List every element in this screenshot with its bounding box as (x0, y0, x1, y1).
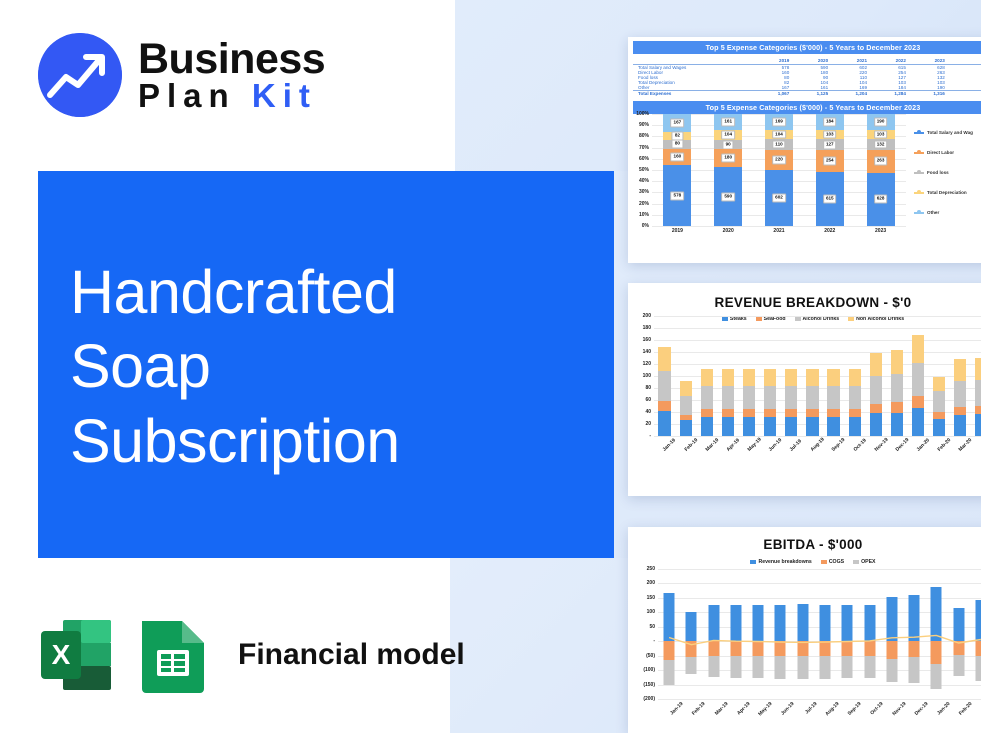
bar-segment[interactable] (891, 350, 903, 375)
bar-group[interactable] (891, 316, 903, 436)
gridline (654, 436, 981, 437)
brand-name-plan: Plan (138, 77, 236, 114)
x-axis-labels: 20192020202120222023 (652, 228, 906, 234)
bar-segment[interactable] (775, 641, 786, 656)
bar-segment[interactable]: 578 (663, 165, 691, 226)
bar-segment[interactable] (701, 417, 713, 436)
row-label: Total Expenses (633, 91, 755, 97)
gridline (658, 569, 981, 570)
bar-segment[interactable] (933, 377, 945, 391)
bar-segment[interactable] (806, 417, 818, 436)
bar-segment[interactable]: 184 (816, 114, 844, 130)
bar-segment[interactable] (975, 641, 981, 656)
bar-segment[interactable] (764, 417, 776, 436)
bar-group[interactable] (658, 316, 670, 436)
y-tick: 30% (639, 189, 649, 195)
y-tick: 70% (639, 145, 649, 151)
y-tick: 120 (643, 361, 651, 367)
y-tick: 160 (643, 337, 651, 343)
ebitda-chart-legend: Revenue breakdownsCOGSOPEX (628, 559, 981, 565)
data-label: 254 (823, 157, 837, 166)
bar-segment[interactable] (730, 605, 741, 642)
bar-segment[interactable] (849, 369, 861, 386)
bar-segment[interactable]: 160 (663, 149, 691, 166)
data-label: 615 (823, 195, 837, 204)
bar-segment[interactable]: 263 (867, 150, 895, 172)
bar-segment[interactable] (933, 391, 945, 412)
data-label: 161 (721, 118, 735, 127)
y-tick: (50) (646, 653, 655, 659)
bar-segment[interactable]: 82 (663, 132, 691, 141)
bar-segment[interactable] (842, 641, 853, 656)
bar-segment[interactable] (753, 605, 764, 642)
revenue-breakdown-card[interactable]: REVENUE BREAKDOWN - $'0 SteaksSeaFoodAlc… (628, 283, 981, 496)
legend-marker (914, 132, 924, 134)
data-label: 169 (772, 117, 786, 126)
x-tick: Jul-19 (798, 701, 818, 721)
bar-segment[interactable] (764, 409, 776, 417)
bar-group[interactable] (827, 316, 839, 436)
x-axis-labels: Jan-19Feb-19Mar-19Apr-19May-19Jun-19Jul-… (658, 701, 981, 707)
x-tick: Jun-19 (776, 701, 796, 721)
bar-group[interactable] (764, 316, 776, 436)
y-tick: 60% (639, 156, 649, 162)
bar-segment[interactable] (864, 641, 875, 656)
bar-segment[interactable] (870, 353, 882, 376)
expense-categories-card[interactable]: Top 5 Expense Categories ($'000) - 5 Yea… (628, 37, 981, 263)
bar-segment[interactable] (658, 411, 670, 436)
y-tick: 140 (643, 349, 651, 355)
bar-segment[interactable]: 127 (816, 139, 844, 150)
bar-segment[interactable]: 132 (867, 139, 895, 150)
bar-segment[interactable] (753, 656, 764, 678)
x-tick: Oct-19 (865, 701, 885, 721)
bar-group[interactable] (870, 316, 882, 436)
bar-segment[interactable] (701, 409, 713, 417)
legend-item[interactable]: Food loss (914, 170, 981, 175)
bar-group[interactable] (785, 316, 797, 436)
bar-segment[interactable] (864, 656, 875, 677)
bar-segment[interactable]: 104 (714, 130, 742, 140)
bar-segment[interactable] (775, 605, 786, 642)
bar-segment[interactable] (785, 369, 797, 386)
bar-segment[interactable] (764, 369, 776, 386)
bar-segment[interactable]: 602 (765, 170, 793, 226)
plot-area (658, 569, 981, 699)
y-tick: 50% (639, 167, 649, 173)
y-tick: 80% (639, 133, 649, 139)
format-badges: X Financial model (38, 617, 465, 693)
x-tick: Nov-19 (887, 701, 907, 721)
bar-segment[interactable] (797, 656, 808, 679)
bar-segment[interactable]: 254 (816, 150, 844, 172)
bar-segment[interactable] (975, 380, 981, 406)
x-tick: Feb-19 (687, 701, 707, 721)
legend-item[interactable]: Total Depreciation (914, 190, 981, 195)
bar-segment[interactable] (686, 657, 697, 674)
legend-label: Total Salary and Wag (927, 130, 973, 135)
bar-segment[interactable] (849, 417, 861, 436)
chart-legend: Total Salary and WagDirect LaborFood los… (914, 130, 981, 230)
bar-group[interactable]: 184103127254615 (816, 114, 844, 226)
page-title-line2: Soap (70, 329, 590, 403)
bar-segment[interactable] (933, 419, 945, 436)
bar-segment[interactable] (819, 641, 830, 656)
gridline (652, 226, 906, 227)
data-label: 103 (874, 130, 888, 139)
y-tick: - (649, 433, 651, 439)
bar-segment[interactable] (975, 358, 981, 380)
ebitda-chart-title: EBITDA - $'000 (628, 537, 981, 552)
bar-group[interactable] (680, 316, 692, 436)
bar-group[interactable] (806, 316, 818, 436)
x-tick: 2020 (714, 228, 742, 234)
table-cell: 1,125 (794, 91, 833, 97)
data-label: 263 (874, 157, 888, 166)
bar-segment[interactable] (785, 409, 797, 417)
expense-table-title: Top 5 Expense Categories ($'000) - 5 Yea… (633, 41, 981, 54)
revenue-chart-title: REVENUE BREAKDOWN - $'0 (628, 295, 981, 310)
bar-segment[interactable]: 590 (714, 167, 742, 226)
plot-area (654, 316, 981, 436)
bar-segment[interactable] (658, 371, 670, 401)
x-tick: 2023 (867, 228, 895, 234)
y-tick: (100) (643, 667, 655, 673)
bar-group[interactable]: 169104110220602 (765, 114, 793, 226)
y-tick: 40 (645, 409, 651, 415)
bar-segment[interactable]: 180 (714, 149, 742, 167)
bar-segment[interactable] (975, 414, 981, 436)
bar-segment[interactable] (975, 406, 981, 414)
bar-segment[interactable] (686, 612, 697, 641)
bar-segment[interactable] (797, 604, 808, 641)
bar-segment[interactable] (743, 386, 755, 409)
y-tick: (200) (643, 696, 655, 702)
bar-segment[interactable] (658, 401, 670, 411)
data-label: 190 (874, 118, 888, 127)
bar-segment[interactable] (953, 608, 964, 641)
bar-segment[interactable] (806, 409, 818, 417)
data-label: 578 (671, 191, 685, 200)
bar-segment[interactable] (827, 409, 839, 417)
bar-segment[interactable]: 220 (765, 150, 793, 170)
bar-segment[interactable] (664, 660, 675, 685)
bar-segment[interactable] (722, 386, 734, 409)
expense-table: 2019 2020 2021 2022 2023 Total Salary an… (633, 58, 981, 96)
x-tick: 2021 (765, 228, 793, 234)
x-tick: Jan-19 (665, 701, 685, 721)
y-tick: 90% (639, 122, 649, 128)
table-cell: 1,316 (911, 91, 950, 97)
data-label: 602 (772, 194, 786, 203)
bar-segment[interactable] (730, 641, 741, 656)
x-tick: 2022 (816, 228, 844, 234)
y-tick: 0% (642, 223, 649, 229)
y-tick: 100 (647, 609, 655, 615)
expense-stacked-chart[interactable]: 100%90%80%70%60%50%40%30%20%10%0% 167828… (628, 114, 981, 246)
revenue-chart[interactable]: 20018016014012010080604020- Jan-19Feb-19… (628, 312, 981, 462)
x-tick: Apr-19 (731, 701, 751, 721)
bar-segment[interactable] (658, 347, 670, 372)
bar-segment[interactable]: 80 (663, 140, 691, 148)
legend-item[interactable]: Other (914, 210, 981, 215)
bar-segment[interactable] (680, 396, 692, 415)
bar-group[interactable] (975, 316, 981, 436)
y-tick: 10% (639, 212, 649, 218)
bar-segment[interactable] (785, 417, 797, 436)
bar-group[interactable] (722, 316, 734, 436)
bar-group[interactable]: 190103132263628 (867, 114, 895, 226)
legend-label: Total Depreciation (927, 190, 967, 195)
bar-segment[interactable] (849, 386, 861, 409)
x-tick: Aug-19 (820, 701, 840, 721)
bar-segment[interactable]: 90 (714, 140, 742, 149)
y-tick: 100% (636, 111, 649, 117)
bar-group[interactable] (954, 316, 966, 436)
legend-item[interactable]: Direct Labor (914, 150, 981, 155)
y-axis: 25020015010050-(50)(100)(150)(200) (628, 569, 658, 699)
bar-segment[interactable] (743, 369, 755, 386)
bar-segment[interactable] (953, 641, 964, 655)
legend-label: Direct Labor (927, 150, 954, 155)
bar-segment[interactable] (931, 664, 942, 690)
data-label: 103 (823, 130, 837, 139)
bar-group[interactable] (849, 316, 861, 436)
bar-segment[interactable]: 103 (867, 130, 895, 139)
legend-label: Revenue breakdowns (758, 559, 811, 565)
bar-segment[interactable] (886, 641, 897, 659)
bar-segment[interactable] (842, 656, 853, 678)
bar-segment[interactable] (886, 597, 897, 641)
bar-segment[interactable]: 161 (714, 114, 742, 130)
x-tick: Jan-19 (662, 440, 675, 453)
x-tick: 2019 (663, 228, 691, 234)
y-tick: 250 (647, 566, 655, 572)
bar-segment[interactable]: 615 (816, 172, 844, 226)
x-tick: Mar-20 (976, 701, 981, 721)
bar-segment[interactable] (753, 641, 764, 656)
x-tick: Apr-19 (725, 440, 738, 453)
format-badge-label: Financial model (238, 638, 465, 672)
y-tick: (150) (643, 682, 655, 688)
bar-segment[interactable] (819, 605, 830, 642)
table-cell: 1,284 (872, 91, 911, 97)
bar-segment[interactable]: 190 (867, 114, 895, 130)
ebitda-chart[interactable]: 25020015010050-(50)(100)(150)(200) Jan-1… (628, 567, 981, 717)
bar-segment[interactable] (912, 335, 924, 363)
x-tick: Jun-19 (768, 440, 781, 453)
page-title-line1: Handcrafted (70, 255, 590, 329)
bar-segment[interactable] (730, 656, 741, 678)
legend-swatch (853, 560, 859, 564)
bar-segment[interactable] (953, 655, 964, 676)
y-axis: 20018016014012010080604020- (628, 316, 654, 436)
bar-group[interactable] (933, 316, 945, 436)
bar-segment[interactable] (827, 369, 839, 386)
bar-segment[interactable]: 169 (765, 114, 793, 130)
bar-segment[interactable] (722, 417, 734, 436)
bar-segment[interactable] (864, 605, 875, 642)
bar-segment[interactable] (870, 404, 882, 414)
x-tick: Mar-19 (704, 440, 717, 453)
bar-segment[interactable] (827, 417, 839, 436)
y-tick: 180 (643, 325, 651, 331)
x-tick: Oct-19 (852, 440, 865, 453)
bar-segment[interactable] (909, 595, 920, 641)
bar-segment[interactable]: 103 (816, 130, 844, 139)
bar-segment[interactable] (664, 641, 675, 660)
legend-swatch (821, 560, 827, 564)
bar-segment[interactable] (931, 587, 942, 641)
legend-marker (914, 212, 924, 214)
data-label: 160 (671, 153, 685, 162)
y-tick: 150 (647, 595, 655, 601)
bar-group[interactable]: 16110490180590 (714, 114, 742, 226)
table-cell: 1,067 (755, 91, 794, 97)
bar-group[interactable] (701, 316, 713, 436)
bar-segment[interactable] (909, 657, 920, 683)
bar-segment[interactable] (806, 369, 818, 386)
growth-chart-circle-icon (38, 33, 122, 117)
bar-segment[interactable] (722, 369, 734, 386)
bar-segment[interactable] (743, 417, 755, 436)
bar-segment[interactable] (827, 386, 839, 409)
bar-segment[interactable] (775, 656, 786, 679)
bar-segment[interactable] (708, 605, 719, 642)
bar-segment[interactable] (975, 656, 981, 681)
legend-label: OPEX (861, 559, 875, 565)
bar-segment[interactable] (701, 369, 713, 386)
table-total-row: Total Expenses1,0671,1251,2041,2841,316 (633, 91, 981, 97)
bar-segment[interactable] (933, 412, 945, 419)
y-tick: 50 (649, 624, 655, 630)
data-label: 90 (723, 140, 734, 149)
x-tick: Mar-20 (958, 440, 971, 453)
y-tick: 100 (643, 373, 651, 379)
bar-segment[interactable] (954, 381, 966, 407)
bar-segment[interactable] (764, 386, 776, 409)
y-tick: 200 (647, 580, 655, 586)
bar-segment[interactable] (891, 402, 903, 412)
x-tick: Mar-19 (709, 701, 729, 721)
ebitda-card[interactable]: EBITDA - $'000 Revenue breakdownsCOGSOPE… (628, 527, 981, 733)
x-tick: Sep-19 (831, 440, 844, 453)
y-tick: 20% (639, 201, 649, 207)
legend-label: Food loss (927, 170, 949, 175)
x-tick: Aug-19 (810, 440, 823, 453)
x-tick: Sep-19 (843, 701, 863, 721)
bar-segment[interactable] (743, 409, 755, 417)
bar-segment[interactable] (797, 641, 808, 656)
bar-segment[interactable] (686, 641, 697, 657)
bar-segment[interactable] (912, 408, 924, 436)
y-tick: - (653, 638, 655, 644)
bar-segment[interactable]: 167 (663, 114, 691, 132)
bar-segment[interactable] (870, 413, 882, 436)
bar-segment[interactable] (849, 409, 861, 417)
data-label: 80 (672, 140, 683, 149)
data-label: 167 (671, 118, 685, 127)
bar-segment[interactable]: 110 (765, 139, 793, 149)
data-label: 184 (823, 118, 837, 127)
bar-segment[interactable] (680, 420, 692, 436)
data-label: 628 (874, 195, 888, 204)
y-tick: 80 (645, 385, 651, 391)
bar-segment[interactable] (806, 386, 818, 409)
x-tick: Feb-19 (683, 440, 696, 453)
bar-segment[interactable] (954, 359, 966, 381)
bar-segment[interactable]: 628 (867, 173, 895, 226)
bar-segment[interactable] (912, 363, 924, 396)
bar-segment[interactable] (909, 641, 920, 657)
bar-group[interactable] (912, 316, 924, 436)
bar-segment[interactable] (680, 381, 692, 395)
x-tick: Jan-20 (916, 440, 929, 453)
bar-group[interactable] (743, 316, 755, 436)
bar-group[interactable]: 1678280160578 (663, 114, 691, 226)
bar-segment[interactable] (842, 605, 853, 642)
bar-segment[interactable] (954, 415, 966, 436)
google-sheets-icon (138, 617, 208, 693)
svg-text:X: X (52, 639, 71, 670)
bar-segment[interactable] (722, 409, 734, 417)
legend-label: Other (927, 210, 939, 215)
x-tick: Jan-20 (932, 701, 952, 721)
bar-segment[interactable] (708, 656, 719, 677)
bar-segment[interactable] (954, 407, 966, 415)
legend-item[interactable]: Revenue breakdowns (750, 559, 811, 565)
data-label: 180 (721, 154, 735, 163)
y-tick: 200 (643, 313, 651, 319)
bar-segment[interactable] (912, 396, 924, 408)
legend-marker (914, 152, 924, 154)
legend-item[interactable]: OPEX (853, 559, 875, 565)
bar-segment[interactable] (664, 593, 675, 641)
bar-segment[interactable] (785, 386, 797, 409)
y-tick: 60 (645, 397, 651, 403)
y-tick: 20 (645, 421, 651, 427)
legend-swatch (750, 560, 756, 564)
bar-segment[interactable] (886, 659, 897, 682)
legend-item[interactable]: Total Salary and Wag (914, 130, 981, 135)
brand-name-kit: Kit (252, 77, 317, 114)
bar-segment[interactable] (701, 386, 713, 409)
bar-segment[interactable] (819, 656, 830, 679)
data-label: 220 (772, 155, 786, 164)
bar-segment[interactable] (708, 641, 719, 656)
bar-segment[interactable] (931, 641, 942, 664)
plot-area: 1678280160578161104901805901691041102206… (652, 114, 906, 226)
x-tick: Feb-20 (954, 701, 974, 721)
gridline (658, 583, 981, 584)
bar-segment[interactable] (891, 374, 903, 402)
data-label: 104 (772, 130, 786, 139)
brand-logo: Business Plan Kit (38, 33, 325, 117)
gridline (658, 699, 981, 700)
bar-segment[interactable] (891, 413, 903, 436)
bar-segment[interactable] (870, 376, 882, 404)
data-label: 104 (721, 131, 735, 140)
brand-name-line1: Business (138, 38, 325, 80)
page-title: Handcrafted Soap Subscription (70, 255, 590, 478)
x-tick: Feb-20 (937, 440, 950, 453)
x-tick: Nov-19 (873, 440, 886, 453)
bar-segment[interactable]: 104 (765, 130, 793, 140)
legend-item[interactable]: COGS (821, 559, 844, 565)
legend-label: COGS (829, 559, 844, 565)
bar-segment[interactable] (975, 600, 981, 642)
legend-marker (914, 192, 924, 194)
